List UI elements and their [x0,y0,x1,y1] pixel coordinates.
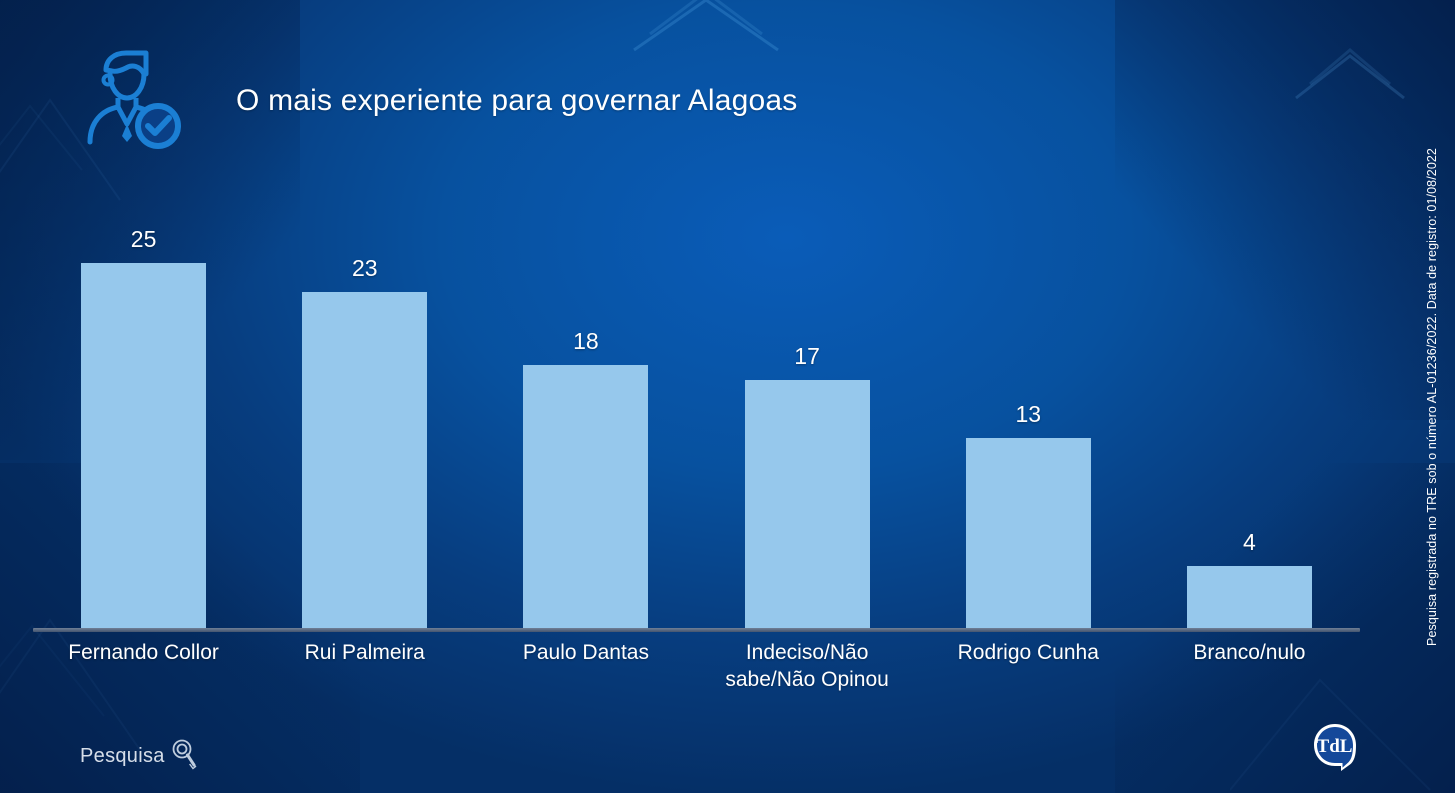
category-label-rodrigo-cunha: Rodrigo Cunha [918,640,1139,694]
category-label-rui-palmeira: Rui Palmeira [254,640,475,694]
bar-value-label: 18 [573,330,599,353]
bar-value-label: 4 [1243,531,1256,554]
bar-rui-palmeira[interactable] [302,292,427,628]
bar-rodrigo-cunha[interactable] [966,438,1091,628]
bar-column: 18 [475,180,696,628]
bar-paulo-dantas[interactable] [523,365,648,628]
bar-column: 13 [918,180,1139,628]
bar-column: 4 [1139,180,1360,628]
category-label-fernando-collor: Fernando Collor [33,640,254,694]
bar-value-label: 23 [352,257,378,280]
category-label-branco-nulo: Branco/nulo [1139,640,1360,694]
slide-header: O mais experiente para governar Alagoas [0,0,1380,190]
chart-plot-area: 25 23 18 17 13 4 [33,180,1360,628]
magnifier-icon [171,738,197,775]
page-title: O mais experiente para governar Alagoas [236,84,797,118]
registration-notice-text: Pesquisa registrada no TRE sob o número … [1425,148,1439,646]
bar-column: 25 [33,180,254,628]
slide-canvas: O mais experiente para governar Alagoas … [0,0,1455,793]
bar-column: 17 [697,180,918,628]
category-label-indeciso-nao-sabe-nao-opinou: Indeciso/Não sabe/Não Opinou [697,640,918,694]
person-verified-icon [82,44,186,150]
chart-axis-baseline [33,628,1360,632]
registration-notice: Pesquisa registrada no TRE sob o número … [1415,0,1449,793]
bar-value-label: 17 [794,345,820,368]
tdl-logo: TdL [1311,722,1359,772]
tdl-logo-text: TdL [1317,736,1353,757]
bar-branco-nulo[interactable] [1187,566,1312,628]
pesquisa-brand: Pesquisa [80,738,197,775]
bar-value-label: 13 [1015,403,1041,426]
bar-column: 23 [254,180,475,628]
pesquisa-brand-label: Pesquisa [80,745,165,768]
category-label-paulo-dantas: Paulo Dantas [475,640,696,694]
bar-indeciso-nao-sabe-nao-opinou[interactable] [745,380,870,628]
bar-chart: 25 23 18 17 13 4 [0,180,1380,635]
bar-fernando-collor[interactable] [81,263,206,628]
chart-category-axis: Fernando Collor Rui Palmeira Paulo Danta… [33,640,1360,694]
bar-value-label: 25 [131,228,157,251]
